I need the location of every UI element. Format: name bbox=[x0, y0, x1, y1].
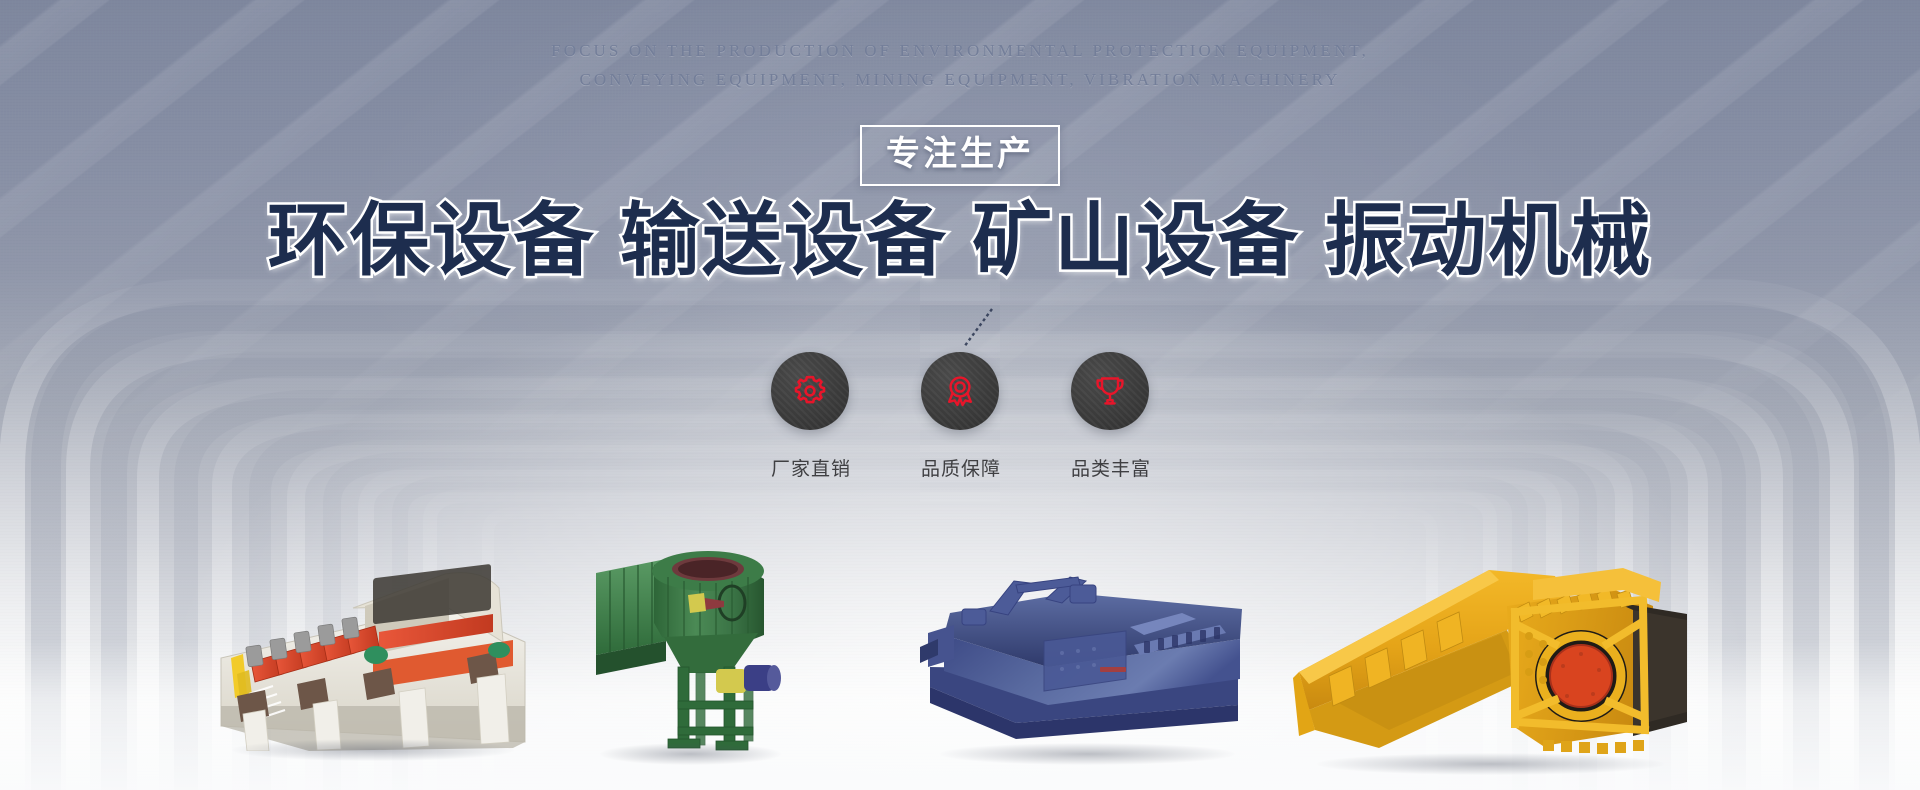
feature-label: 厂家直销 bbox=[771, 454, 849, 481]
focus-production-badge: 专注生产 bbox=[860, 125, 1060, 186]
feature-item-quality-guarantee[interactable]: 品质保障 bbox=[921, 352, 999, 481]
feature-list: 厂家直销 品质保障 bbox=[771, 352, 1149, 481]
feature-icon-circle bbox=[1071, 352, 1149, 430]
decorative-slash-icon bbox=[958, 305, 998, 351]
feature-icon-circle bbox=[921, 352, 999, 430]
eyebrow-tagline: FOCUS ON THE PRODUCTION OF ENVIRONMENTAL… bbox=[0, 36, 1920, 94]
feature-item-rich-variety[interactable]: 品类丰富 bbox=[1071, 352, 1149, 481]
feature-item-factory-direct[interactable]: 厂家直销 bbox=[771, 352, 849, 481]
feature-label: 品类丰富 bbox=[1071, 454, 1149, 481]
feature-label: 品质保障 bbox=[921, 454, 999, 481]
page-title: 环保设备 输送设备 矿山设备 振动机械 bbox=[0, 196, 1920, 286]
medal-icon bbox=[941, 372, 979, 410]
feature-icon-circle bbox=[771, 352, 849, 430]
gear-icon bbox=[791, 372, 829, 410]
banner-content: FOCUS ON THE PRODUCTION OF ENVIRONMENTAL… bbox=[0, 0, 1920, 790]
trophy-icon bbox=[1091, 372, 1129, 410]
hero-banner: FOCUS ON THE PRODUCTION OF ENVIRONMENTAL… bbox=[0, 0, 1920, 790]
